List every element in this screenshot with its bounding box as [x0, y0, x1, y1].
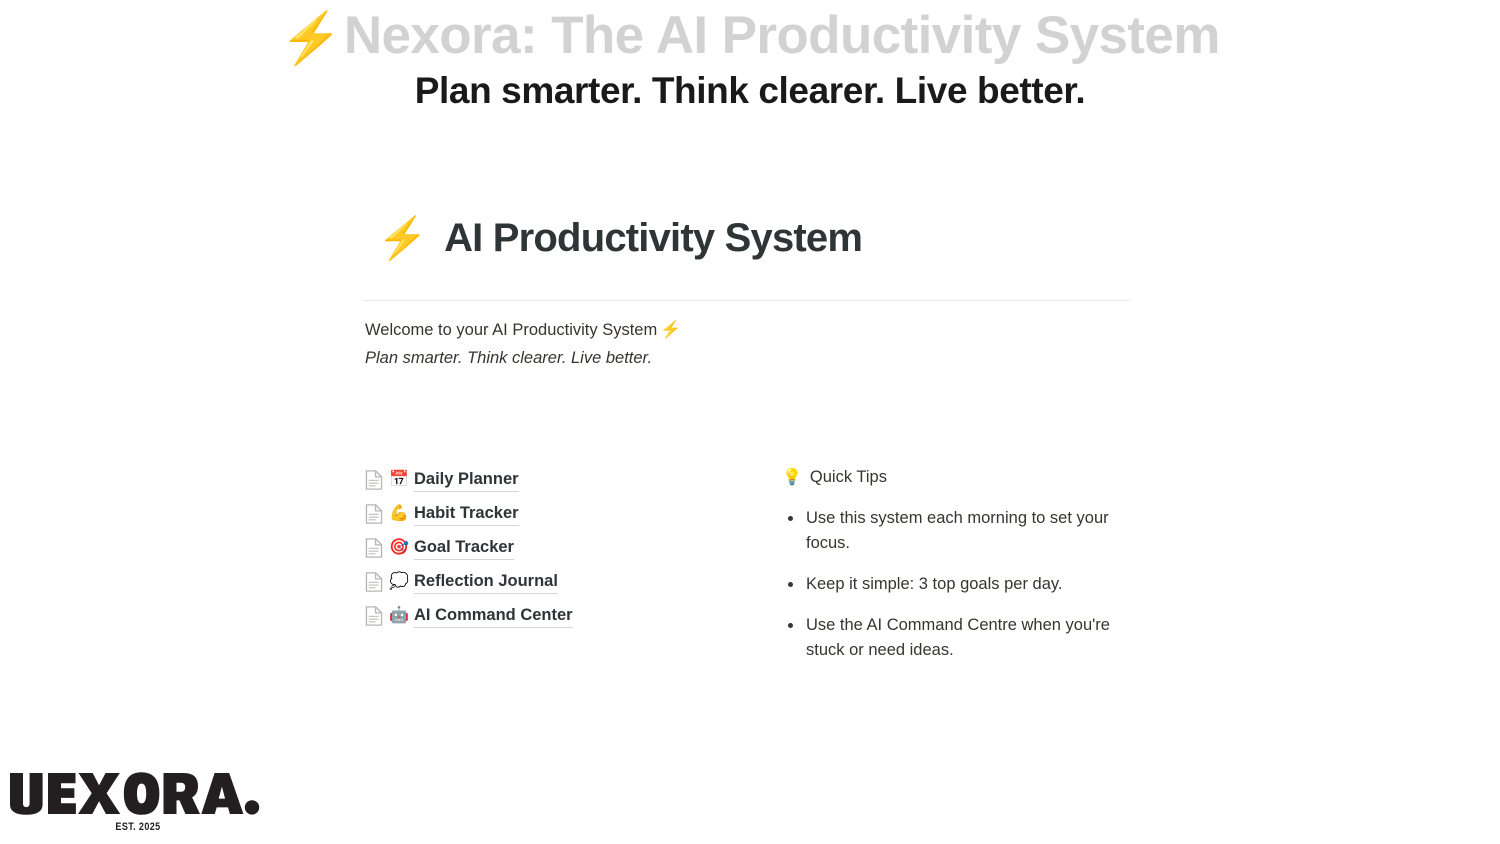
- page-link-label: Goal Tracker: [414, 536, 514, 560]
- flexed-biceps-emoji: 💪: [389, 506, 408, 522]
- page-links-column: 📅 Daily Planner 💪 Habit Tracker 🎯: [363, 463, 770, 679]
- document-page-icon: [365, 470, 383, 490]
- quick-tips-column: 💡 Quick Tips Use this system each mornin…: [770, 463, 1131, 679]
- nexora-wordmark-icon: [8, 769, 260, 819]
- list-item: Use this system each morning to set your…: [782, 506, 1127, 556]
- document-page-icon: [365, 606, 383, 626]
- document-page-icon: [365, 504, 383, 524]
- page-link-label: Reflection Journal: [414, 570, 558, 594]
- lightning-bolt-icon: ⚡: [660, 320, 681, 339]
- embedded-notion-document: ⚡ AI Productivity System Welcome to your…: [363, 198, 1131, 679]
- page-link-ai-command-center[interactable]: 🤖 AI Command Center: [365, 599, 770, 633]
- document-page-icon: [365, 538, 383, 558]
- quick-tips-heading-text: Quick Tips: [810, 466, 887, 490]
- document-title-row: ⚡ AI Productivity System: [363, 198, 1131, 260]
- page-link-daily-planner[interactable]: 📅 Daily Planner: [365, 463, 770, 497]
- dart-emoji: 🎯: [389, 540, 408, 556]
- thought-balloon-emoji: 💭: [389, 574, 408, 590]
- lightning-bolt-icon: ⚡: [377, 218, 428, 259]
- brand-logo: EST. 2025: [8, 769, 268, 830]
- page-subtitle: Plan smarter. Think clearer. Live better…: [0, 66, 1500, 113]
- page-link-label: Habit Tracker: [414, 502, 519, 526]
- robot-emoji: 🤖: [389, 608, 408, 624]
- document-title: AI Productivity System: [444, 216, 862, 260]
- list-item: Use the AI Command Centre when you're st…: [782, 613, 1127, 663]
- two-column-body: 📅 Daily Planner 💪 Habit Tracker 🎯: [363, 463, 1131, 679]
- lightning-bolt-icon: ⚡: [280, 10, 342, 66]
- brand-established-text: EST. 2025: [8, 820, 268, 833]
- page-link-label: Daily Planner: [414, 468, 519, 492]
- light-bulb-emoji: 💡: [782, 470, 802, 486]
- slide-header: ⚡Nexora: The AI Productivity System Plan…: [0, 0, 1500, 113]
- page-link-label: AI Command Center: [414, 604, 573, 628]
- page-link-habit-tracker[interactable]: 💪 Habit Tracker: [365, 497, 770, 531]
- page-link-goal-tracker[interactable]: 🎯 Goal Tracker: [365, 531, 770, 565]
- quick-tips-list: Use this system each morning to set your…: [782, 506, 1127, 663]
- page-title-text: Nexora: The AI Productivity System: [344, 6, 1220, 65]
- page-title: ⚡Nexora: The AI Productivity System: [0, 0, 1500, 66]
- calendar-emoji: 📅: [389, 472, 408, 488]
- welcome-line: Welcome to your AI Productivity System⚡: [363, 301, 1131, 344]
- document-page-icon: [365, 572, 383, 592]
- quick-tips-heading: 💡 Quick Tips: [782, 463, 1131, 490]
- page-link-reflection-journal[interactable]: 💭 Reflection Journal: [365, 565, 770, 599]
- list-item: Keep it simple: 3 top goals per day.: [782, 572, 1127, 597]
- welcome-text: Welcome to your AI Productivity System: [365, 321, 657, 339]
- document-tagline: Plan smarter. Think clearer. Live better…: [363, 344, 1131, 372]
